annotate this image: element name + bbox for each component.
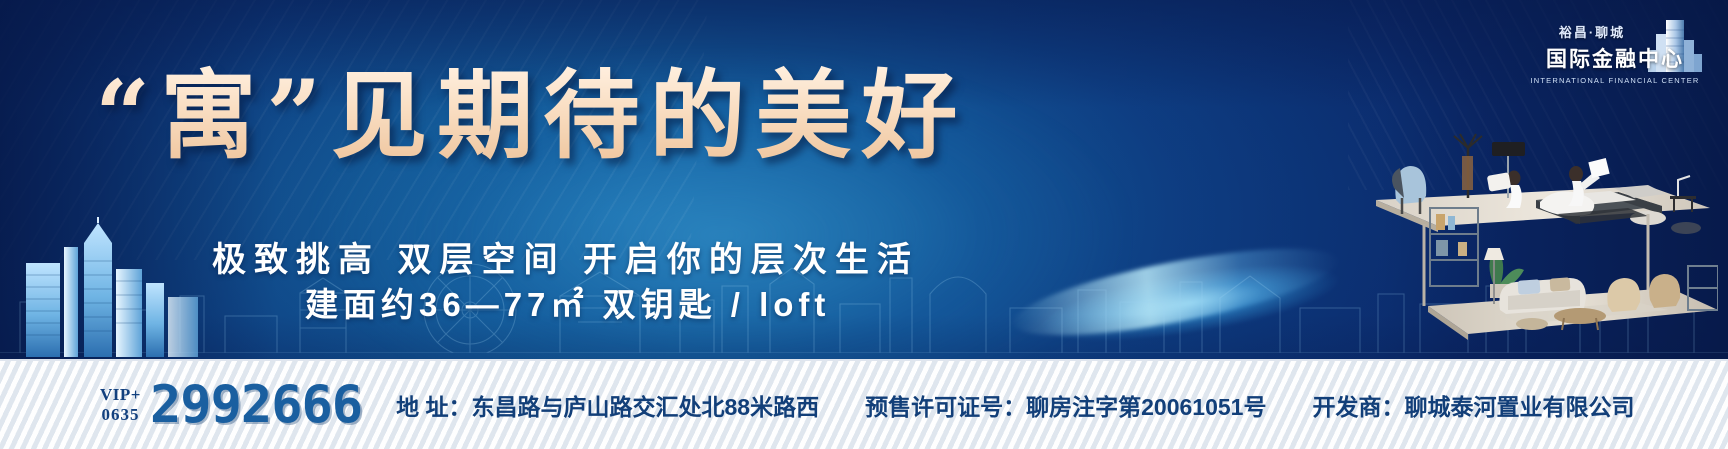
address-item: 地 址：东昌路与庐山路交汇处北88米路西 — [396, 388, 819, 422]
project-logo: 裕昌·聊城 国际金融中心 INTERNATIONAL FINANCIAL CEN… — [1520, 22, 1710, 85]
license-item: 预售许可证号：聊房注字第20061051号 — [865, 388, 1266, 422]
vip-label: VIP+ — [100, 385, 141, 405]
loft-interior-scene — [1318, 48, 1718, 348]
developer-item: 开发商：聊城泰河置业有限公司 — [1312, 388, 1634, 422]
vip-area-code: VIP+ 0635 — [100, 385, 141, 424]
info-bar: VIP+ 0635 2992666 地 址：东昌路与庐山路交汇处北88米路西 预… — [0, 359, 1728, 449]
subtitle-area-spec: 建面约36—77㎡ 双钥匙 / loft — [305, 278, 830, 326]
subtitle-features: 极致挑高 双层空间 开启你的层次生活 — [212, 232, 919, 281]
logo-line-name: 国际金融中心 — [1520, 43, 1710, 73]
phone-number: 2992666 — [150, 379, 362, 431]
headline: “寓”见期待的美好 — [95, 64, 967, 168]
logo-line-brand: 裕昌·聊城 — [1520, 22, 1710, 41]
phone-block: VIP+ 0635 2992666 — [100, 379, 362, 431]
area-code: 0635 — [101, 405, 139, 425]
info-items: 地 址：东昌路与庐山路交汇处北88米路西 预售许可证号：聊房注字第2006105… — [396, 388, 1634, 422]
building-illustration-icon — [18, 217, 208, 357]
advertisement-banner: 裕昌·聊城 国际金融中心 INTERNATIONAL FINANCIAL CEN… — [0, 0, 1728, 449]
logo-line-english: INTERNATIONAL FINANCIAL CENTER — [1520, 76, 1710, 85]
